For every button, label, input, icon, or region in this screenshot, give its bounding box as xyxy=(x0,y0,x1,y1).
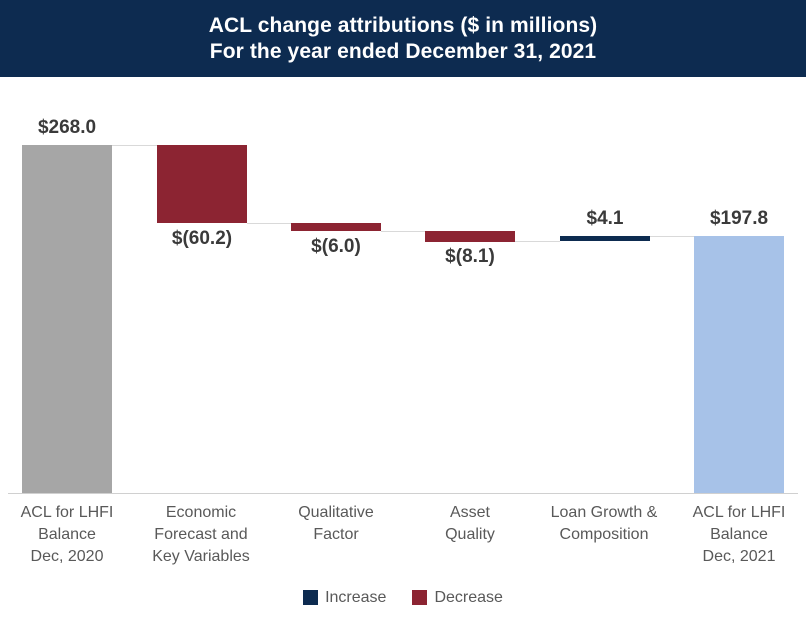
category-label-line: Dec, 2021 xyxy=(672,546,806,568)
legend-item-decrease[interactable]: Decrease xyxy=(412,589,502,607)
category-label: AssetQuality xyxy=(403,502,537,546)
waterfall-bar xyxy=(22,145,112,493)
waterfall-connector xyxy=(381,231,425,232)
category-axis-labels: ACL for LHFIBalanceDec, 2020EconomicFore… xyxy=(0,502,806,578)
category-label-line: Quality xyxy=(403,524,537,546)
category-label: ACL for LHFIBalanceDec, 2020 xyxy=(0,502,134,568)
waterfall-connector xyxy=(247,223,291,224)
waterfall-connector xyxy=(515,241,560,242)
category-label-line: Balance xyxy=(672,524,806,546)
category-label-line: Key Variables xyxy=(134,546,268,568)
category-label-line: Balance xyxy=(0,524,134,546)
category-label-line: ACL for LHFI xyxy=(0,502,134,524)
waterfall-connector xyxy=(650,236,694,237)
category-label: Loan Growth &Composition xyxy=(537,502,671,546)
waterfall-bar xyxy=(291,223,381,231)
x-axis-line xyxy=(8,493,798,494)
category-label: EconomicForecast andKey Variables xyxy=(134,502,268,568)
legend-label-increase: Increase xyxy=(325,589,386,607)
waterfall-bar xyxy=(694,236,784,493)
category-label-line: Composition xyxy=(537,524,671,546)
category-label-line: Economic xyxy=(134,502,268,524)
legend-swatch-increase xyxy=(303,590,318,605)
bar-value-label: $(60.2) xyxy=(132,229,272,249)
category-label-line: Asset xyxy=(403,502,537,524)
waterfall-bar xyxy=(425,231,515,242)
waterfall-connector xyxy=(112,145,157,146)
category-label-line: Factor xyxy=(269,524,403,546)
category-label-line: Dec, 2020 xyxy=(0,546,134,568)
category-label-line: ACL for LHFI xyxy=(672,502,806,524)
chart-legend: IncreaseDecrease xyxy=(0,585,806,610)
legend-label-decrease: Decrease xyxy=(434,589,502,607)
bar-value-label: $197.8 xyxy=(669,209,806,229)
category-label: ACL for LHFIBalanceDec, 2021 xyxy=(672,502,806,568)
waterfall-bar xyxy=(560,236,650,241)
bar-value-label: $268.0 xyxy=(0,118,137,138)
waterfall-bar xyxy=(157,145,247,223)
legend-item-increase[interactable]: Increase xyxy=(303,589,386,607)
category-label-line: Qualitative xyxy=(269,502,403,524)
title-banner: ACL change attributions ($ in millions) … xyxy=(0,0,806,77)
bar-value-label: $(8.1) xyxy=(400,247,540,267)
page-title-line2: For the year ended December 31, 2021 xyxy=(210,39,596,65)
page-title-line1: ACL change attributions ($ in millions) xyxy=(209,13,598,39)
bar-value-label: $4.1 xyxy=(535,209,675,229)
bar-value-label: $(6.0) xyxy=(266,237,406,257)
legend-swatch-decrease xyxy=(412,590,427,605)
category-label-line: Loan Growth & xyxy=(537,502,671,524)
category-label: QualitativeFactor xyxy=(269,502,403,546)
waterfall-plot: $268.0$(60.2)$(6.0)$(8.1)$4.1$197.8 xyxy=(0,77,806,537)
category-label-line: Forecast and xyxy=(134,524,268,546)
chart-page: ACL change attributions ($ in millions) … xyxy=(0,0,806,618)
